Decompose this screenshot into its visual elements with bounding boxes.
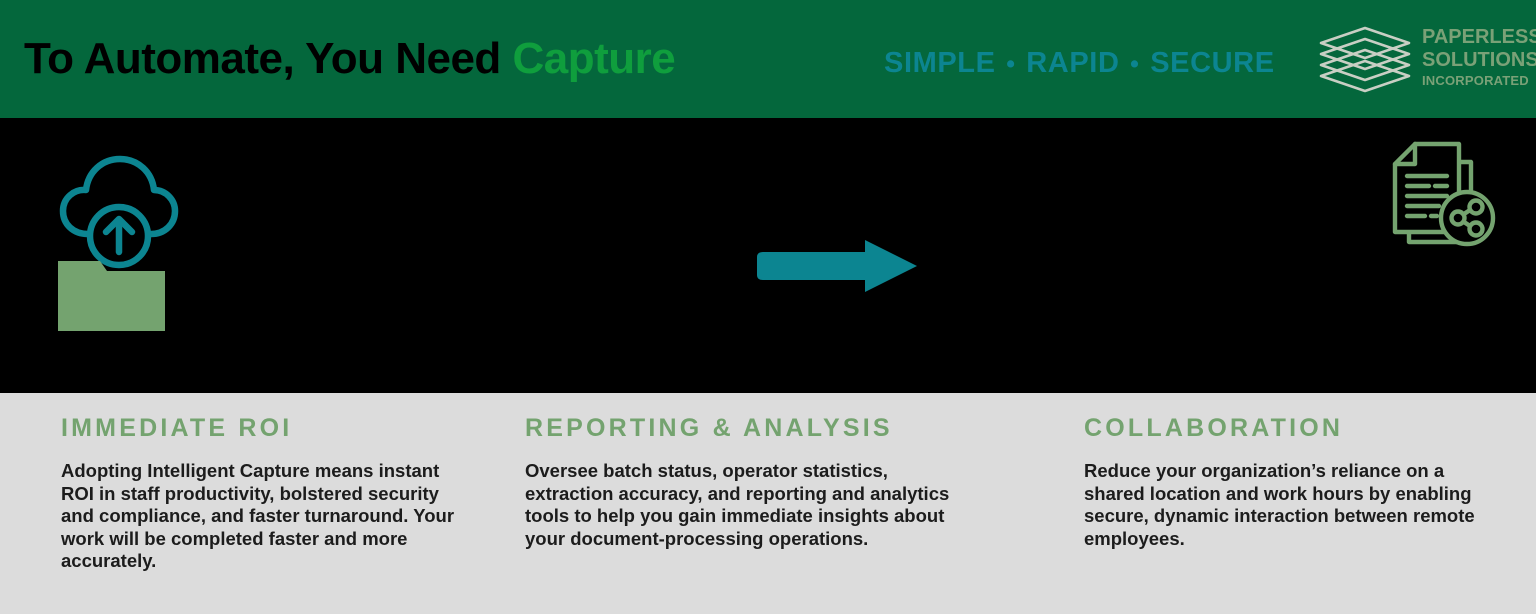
stacked-paper-sheets-icon [1316,24,1414,96]
feature-heading: COLLABORATION [1084,413,1496,443]
feature-heading: REPORTING & ANALYSIS [525,413,965,443]
infographic-slide: To Automate, You Need Capture SIMPLE • R… [0,0,1536,614]
right-arrow-icon [757,240,917,292]
page-title-accent: Capture [513,34,676,83]
logo-line-3: INCORPORATED [1422,74,1522,87]
cloud-upload-folder-icon [55,148,180,333]
tagline-separator-1: • [1004,50,1017,78]
tagline-word-secure: SECURE [1150,47,1274,79]
feature-column-collaboration: COLLABORATION Reduce your organization’s… [1084,413,1496,550]
feature-body: Oversee batch status, operator statistic… [525,460,965,550]
logo-line-2: SOLUTIONS [1422,50,1522,70]
feature-body: Reduce your organization’s reliance on a… [1084,460,1496,550]
feature-heading: IMMEDIATE ROI [61,413,471,443]
logo-line-1: PAPERLESS [1422,27,1522,47]
feature-column-reporting-analysis: REPORTING & ANALYSIS Oversee batch statu… [525,413,965,550]
tagline-separator-2: • [1128,50,1141,78]
company-logo: PAPERLESS SOLUTIONS INCORPORATED [1316,22,1520,98]
logo-wordmark: PAPERLESS SOLUTIONS INCORPORATED [1422,27,1522,87]
tagline: SIMPLE • RAPID • SECURE [884,46,1275,81]
tagline-word-simple: SIMPLE [884,47,996,79]
feature-body: Adopting Intelligent Capture means insta… [61,460,471,573]
document-share-icon [1383,140,1501,250]
feature-column-immediate-roi: IMMEDIATE ROI Adopting Intelligent Captu… [61,413,471,573]
tagline-word-rapid: RAPID [1026,47,1119,79]
page-title-main: To Automate, You Need [24,34,501,83]
features-panel: IMMEDIATE ROI Adopting Intelligent Captu… [0,393,1536,614]
page-title: To Automate, You Need Capture [24,33,675,85]
header-bar: To Automate, You Need Capture SIMPLE • R… [0,0,1536,118]
